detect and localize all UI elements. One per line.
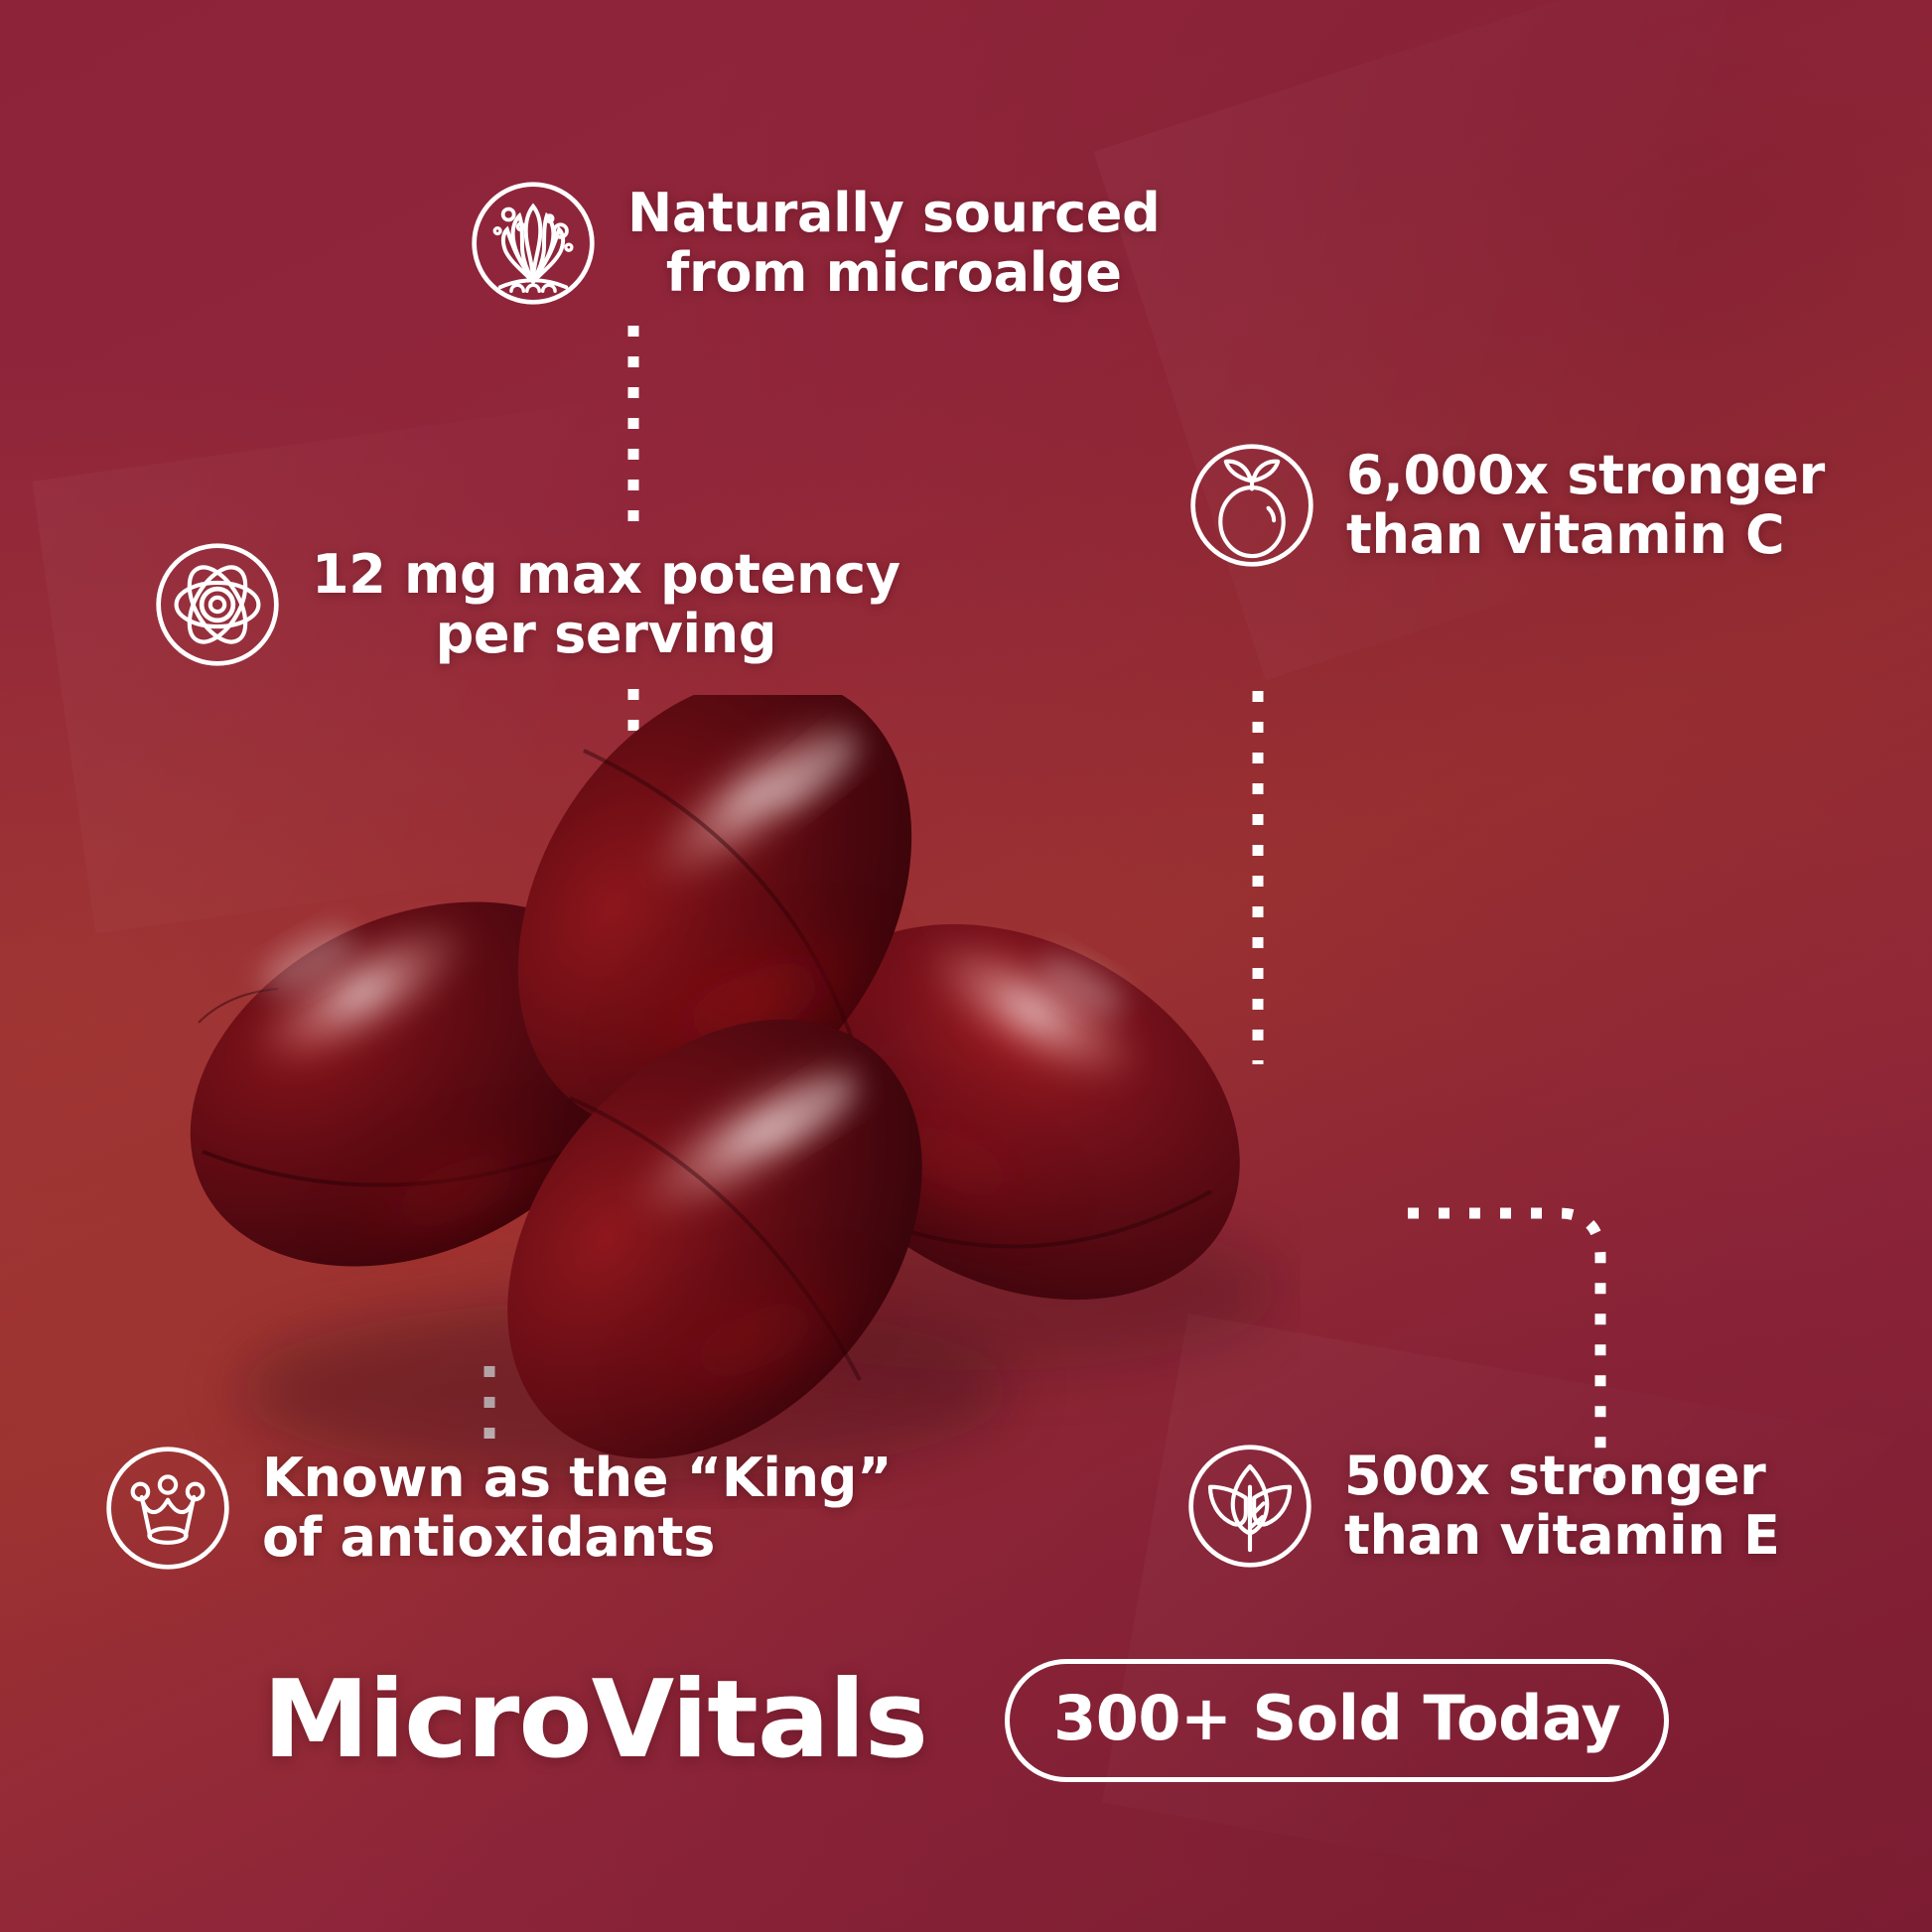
brand-bar: MicroVitals 300+ Sold Today [0,1646,1932,1795]
atom-icon [149,536,286,673]
feature-king-of-antioxidants: Known as the “King” of antioxidants [99,1440,892,1577]
background-sheen [1093,0,1932,680]
feature-max-potency: 12 mg max potency per serving [149,536,900,673]
feature-naturally-sourced: Naturally sourced from microalge [465,175,1160,312]
product-image-softgel-capsules [159,695,1301,1509]
feature-label: 500x stronger than vitamin E [1344,1447,1780,1567]
brand-name: MicroVitals [263,1667,927,1774]
feature-label: 6,000x stronger than vitamin C [1346,446,1825,566]
sold-today-badge: 300+ Sold Today [1005,1659,1669,1782]
feature-label: 12 mg max potency per serving [312,545,900,665]
feature-stronger-than-vitamin-c: 6,000x stronger than vitamin C [1183,437,1825,574]
citrus-fruit-icon [1183,437,1320,574]
capsule-cluster-illustration [159,695,1301,1509]
leaf-icon [1181,1438,1318,1575]
feature-label: Known as the “King” of antioxidants [262,1449,892,1569]
product-infographic: Naturally sourced from microalge 12 mg m… [0,0,1932,1932]
seaweed-icon [465,175,602,312]
feature-stronger-than-vitamin-e: 500x stronger than vitamin E [1181,1438,1780,1575]
crown-icon [99,1440,236,1577]
feature-label: Naturally sourced from microalge [627,184,1160,304]
